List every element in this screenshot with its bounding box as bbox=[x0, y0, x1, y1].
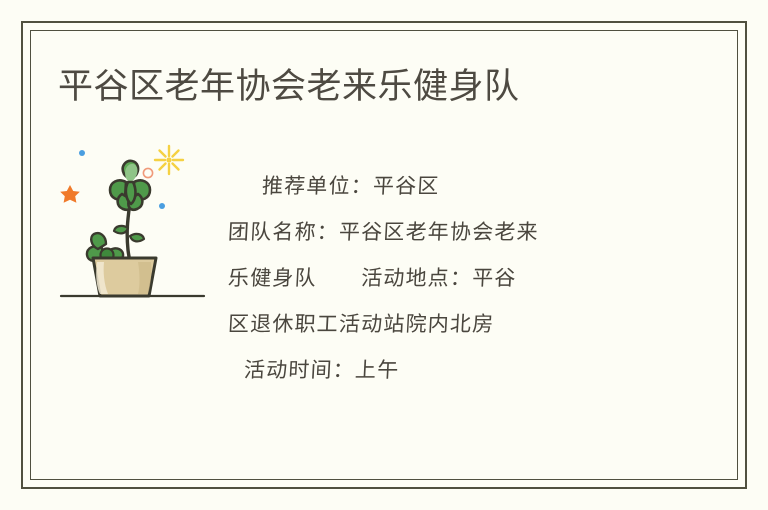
info-line-activity-time: 活动时间：上午 bbox=[227, 347, 649, 393]
page-title: 平谷区老年协会老来乐健身队 bbox=[58, 64, 520, 110]
sparkle-center-dot bbox=[166, 157, 171, 162]
info-line-recommending-unit: 推荐单位：平谷区 bbox=[227, 163, 649, 209]
potted-plant-illustration bbox=[52, 132, 217, 307]
poster-card: 平谷区老年协会老来乐健身队 bbox=[0, 0, 768, 510]
team-info-text: 推荐单位：平谷区 团队名称：平谷区老年协会老来 乐健身队 活动地点：平谷 区退休… bbox=[228, 163, 648, 393]
info-line-team-name-cont-and-location: 乐健身队 活动地点：平谷 bbox=[227, 255, 649, 301]
info-line-team-name: 团队名称：平谷区老年协会老来 bbox=[227, 209, 649, 255]
plant-stem bbox=[127, 202, 131, 266]
flower-pot bbox=[93, 258, 156, 296]
dot-icon bbox=[159, 203, 165, 209]
succulent-rosette-top bbox=[110, 161, 150, 210]
stem-leaves bbox=[114, 226, 144, 242]
info-line-location-cont: 区退休职工活动站院内北房 bbox=[227, 301, 649, 347]
circle-outline-icon bbox=[143, 168, 152, 177]
dot-icon bbox=[79, 150, 85, 156]
star-icon bbox=[60, 185, 80, 203]
